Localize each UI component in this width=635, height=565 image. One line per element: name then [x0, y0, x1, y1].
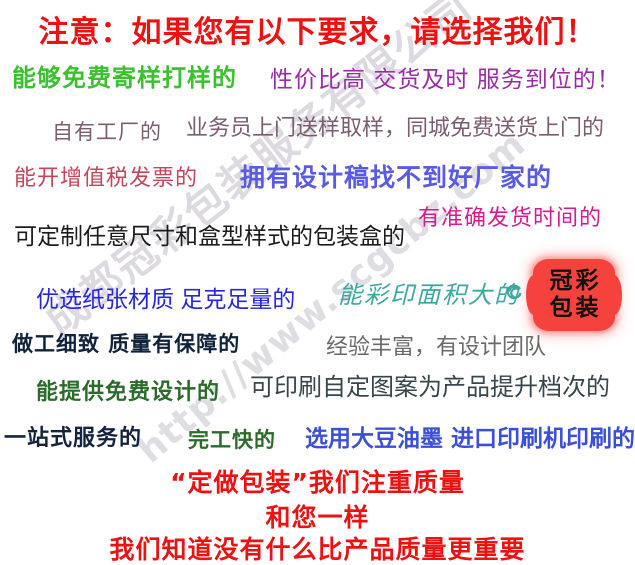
feature-value-service: 性价比高 交货及时 服务到位的！: [270, 68, 621, 91]
logo-line-1: 冠彩: [547, 268, 602, 295]
feature-accurate-delivery: 有准确发货时间的: [418, 207, 602, 229]
feature-script-slogan: 能彩印面积大的: [338, 283, 520, 307]
feature-premium-paper: 优选纸张材质 足克足量的: [36, 288, 295, 311]
company-logo-seal: 冠彩 包装: [533, 259, 615, 331]
feature-has-design-no-factory: 拥有设计稿找不到好厂家的: [240, 165, 552, 190]
feature-free-sample: 能够免费寄样打样的: [12, 66, 237, 90]
feature-free-design: 能提供免费设计的: [36, 382, 220, 404]
feature-soy-ink: 选用大豆油墨 进口印刷机印刷的: [305, 428, 635, 451]
feature-sales-visit: 业务员上门送样取样，同城免费送货上门的: [186, 118, 604, 140]
feature-fast-finish: 完工快的: [188, 430, 276, 451]
promo-poster: 成都冠彩包装服务有限公司 http://www.scgcbz.com 冠彩 包装…: [0, 0, 635, 565]
footer-line-3: 我们知道没有什么比产品质量更重要: [0, 537, 635, 562]
feature-custom-size-box: 可定制任意尺寸和盒型样式的包装盒的: [14, 225, 405, 248]
feature-vat-invoice: 能开增值税发票的: [14, 168, 198, 190]
logo-line-2: 包装: [547, 295, 602, 322]
poster-headline: 注意：如果您有以下要求，请选择我们！: [0, 18, 635, 48]
feature-own-factory: 自有工厂的: [52, 122, 162, 143]
feature-experience-team: 经验丰富，有设计团队: [326, 336, 546, 358]
swirl-decoration-icon: [505, 283, 523, 301]
footer-line-2: 和您一样: [0, 505, 635, 530]
footer-line-1: “定做包装”我们注重质量: [0, 470, 635, 495]
feature-one-stop: 一站式服务的: [4, 428, 142, 450]
feature-custom-print: 可印刷自定图案为产品提升档次的: [250, 375, 610, 399]
feature-craft-quality: 做工细致 质量有保障的: [12, 334, 240, 355]
